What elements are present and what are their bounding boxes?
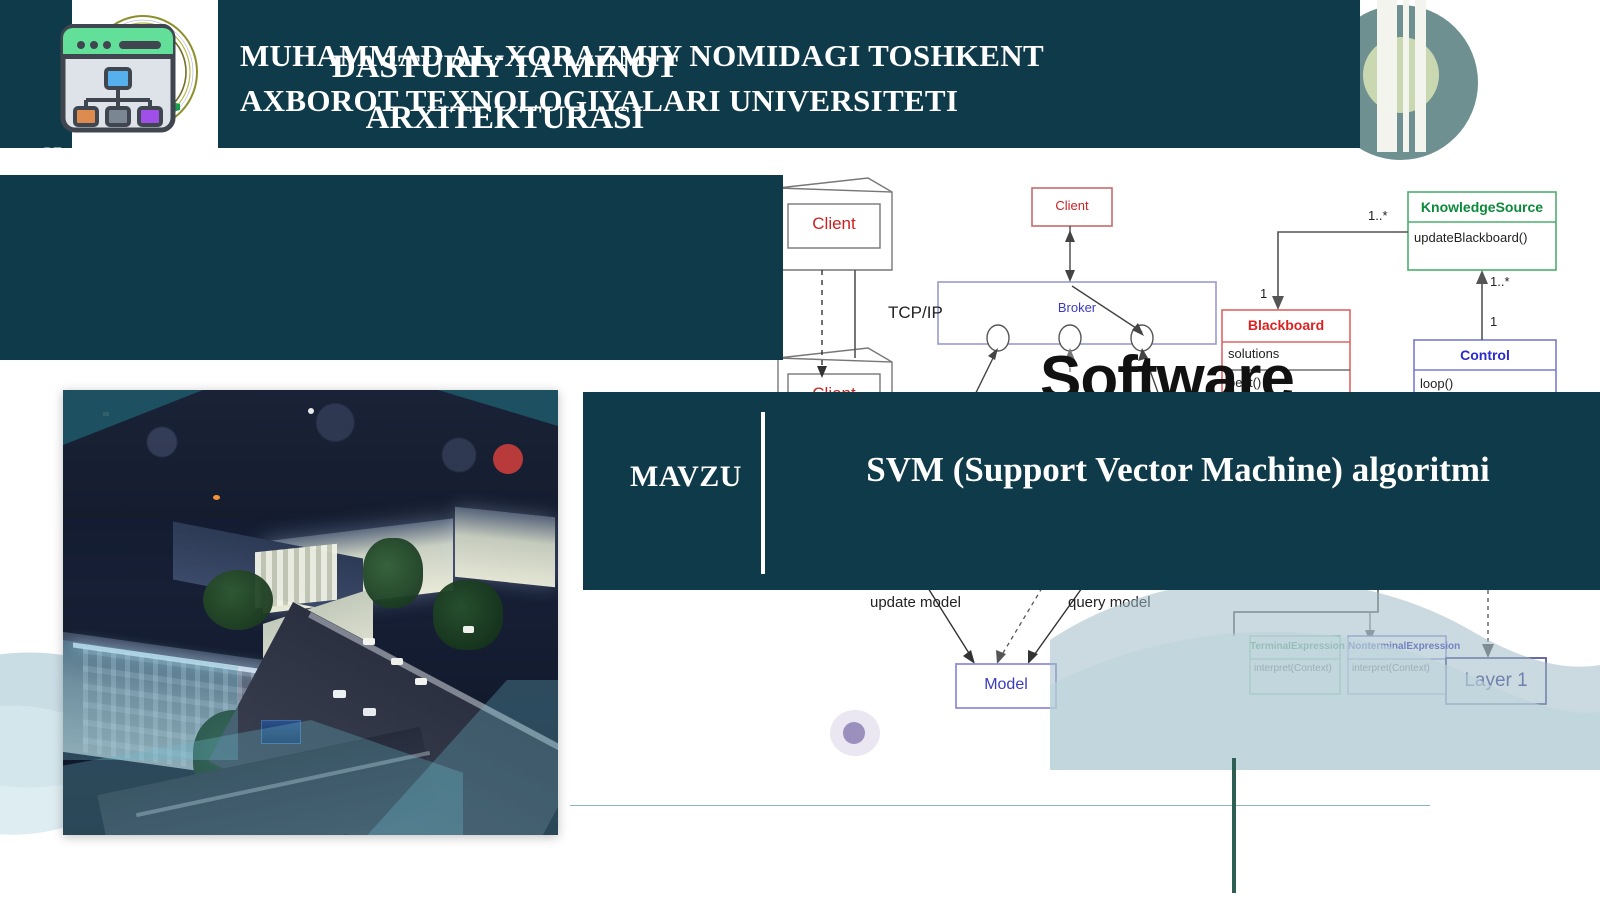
multiplicity-one-a: 1 (1260, 286, 1267, 301)
topic-title: SVM (Support Vector Machine) algoritmi (783, 450, 1573, 490)
knowledge-source-method: updateBlackboard() (1414, 230, 1527, 245)
decor-dot-core (843, 722, 865, 744)
subject-title: DASTURIY TA’MINOT ARXITEKTURASI (270, 42, 740, 144)
update-model-label: update model (870, 594, 961, 611)
decor-circle-small (1363, 37, 1439, 113)
decor-stripe-1 (1377, 0, 1397, 152)
decor-stripe-3 (1415, 0, 1426, 152)
client-class-label: Client (1032, 198, 1112, 213)
topic-label: MAVZU (611, 460, 761, 494)
photo-corner-overlay-top-left (63, 390, 203, 445)
decor-stripe-2 (1403, 0, 1409, 152)
decor-vertical-line (1232, 758, 1236, 893)
blackboard-title: Blackboard (1222, 317, 1350, 333)
topic-banner: MAVZU SVM (Support Vector Machine) algor… (583, 392, 1600, 590)
multiplicity-one-star-a: 1..* (1368, 208, 1388, 223)
knowledge-source-title: KnowledgeSource (1408, 199, 1556, 215)
control-title: Control (1414, 347, 1556, 363)
control-method: loop() (1420, 376, 1453, 391)
model-class-label: Model (956, 676, 1056, 694)
subject-title-line-2: ARXITEKTURASI (270, 93, 740, 144)
tcp-ip-label: TCP/IP (888, 303, 943, 323)
presentation-slide: Client Client TCP/IP Client Broker Knowl… (0, 0, 1600, 900)
topic-divider (761, 412, 765, 574)
photo-corner-overlay-top-right (438, 390, 558, 426)
multiplicity-one-star-b: 1..* (1490, 274, 1510, 289)
decor-horizontal-line (570, 805, 1430, 806)
subject-title-line-1: DASTURIY TA’MINOT (270, 42, 740, 93)
multiplicity-one-b: 1 (1490, 314, 1497, 329)
photo-accent-red-dot (493, 444, 523, 474)
client-node-1-label: Client (798, 214, 870, 234)
university-campus-night-aerial-photo (63, 390, 558, 835)
software-architecture-sitemap-icon (59, 24, 177, 134)
subject-bar (0, 175, 783, 360)
broker-class-label: Broker (938, 300, 1216, 315)
course-code: SWAR16MBK (28, 143, 208, 171)
